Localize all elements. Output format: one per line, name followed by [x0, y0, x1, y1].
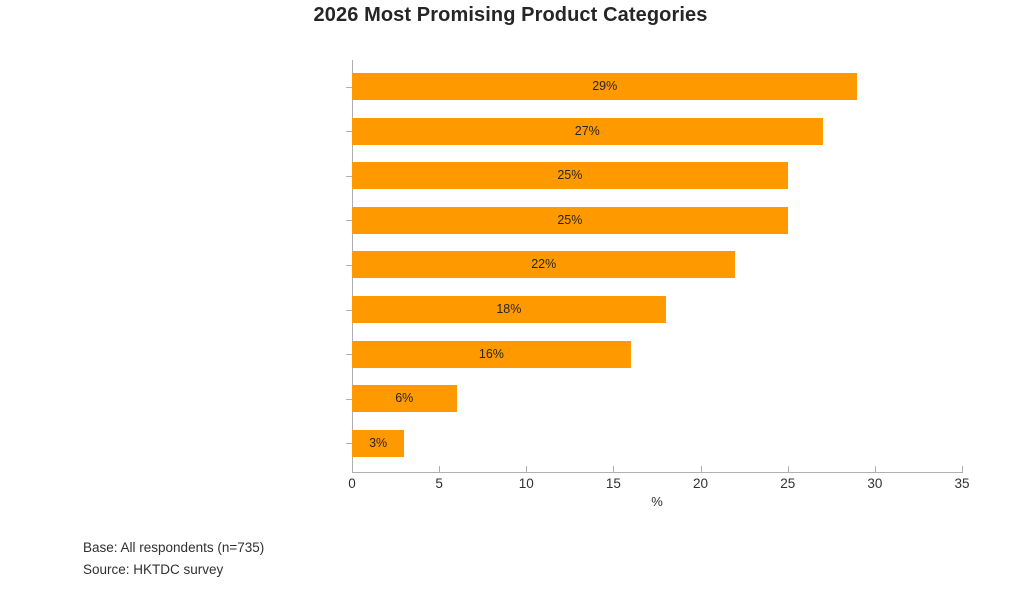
footnotes: Base: All respondents (n=735) Source: HK… [83, 537, 264, 581]
bar[interactable] [352, 430, 404, 457]
bar-item[interactable]: 18% [352, 296, 666, 323]
footnote-source: Source: HKTDC survey [83, 559, 264, 581]
x-axis-tick-label: 20 [693, 476, 708, 491]
x-axis-tick-label: 30 [867, 476, 882, 491]
x-axis-tick-label: 25 [780, 476, 795, 491]
x-axis-tick [875, 466, 876, 472]
bar[interactable] [352, 118, 823, 145]
bar[interactable] [352, 207, 788, 234]
x-axis-tick-label: 15 [606, 476, 621, 491]
bar-item[interactable]: 25% [352, 162, 788, 189]
bar-item[interactable]: 16% [352, 341, 631, 368]
x-axis-tick-label: 10 [519, 476, 534, 491]
bar[interactable] [352, 73, 857, 100]
bar-item[interactable]: 29% [352, 73, 857, 100]
bar-item[interactable]: 22% [352, 251, 735, 278]
x-axis-tick-label: 0 [348, 476, 356, 491]
bar-item[interactable]: 6% [352, 385, 457, 412]
x-axis-tick [526, 466, 527, 472]
bar-item[interactable]: 25% [352, 207, 788, 234]
x-axis-tick [701, 466, 702, 472]
bar[interactable] [352, 385, 457, 412]
bar[interactable] [352, 341, 631, 368]
bar[interactable] [352, 162, 788, 189]
x-axis-title: % [651, 494, 663, 509]
bar-item[interactable]: 3% [352, 430, 404, 457]
x-axis-tick-label: 35 [954, 476, 969, 491]
x-axis-tick-label: 5 [435, 476, 443, 491]
x-axis-tick [962, 466, 963, 472]
bar-item[interactable]: 27% [352, 118, 823, 145]
chart-title: 2026 Most Promising Product Categories [0, 0, 1021, 27]
bar[interactable] [352, 251, 735, 278]
x-axis-line [352, 472, 963, 473]
bar[interactable] [352, 296, 666, 323]
x-axis-tick [439, 466, 440, 472]
footnote-base: Base: All respondents (n=735) [83, 537, 264, 559]
x-axis-tick [788, 466, 789, 472]
x-axis-tick [613, 466, 614, 472]
x-axis-tick [352, 466, 353, 472]
